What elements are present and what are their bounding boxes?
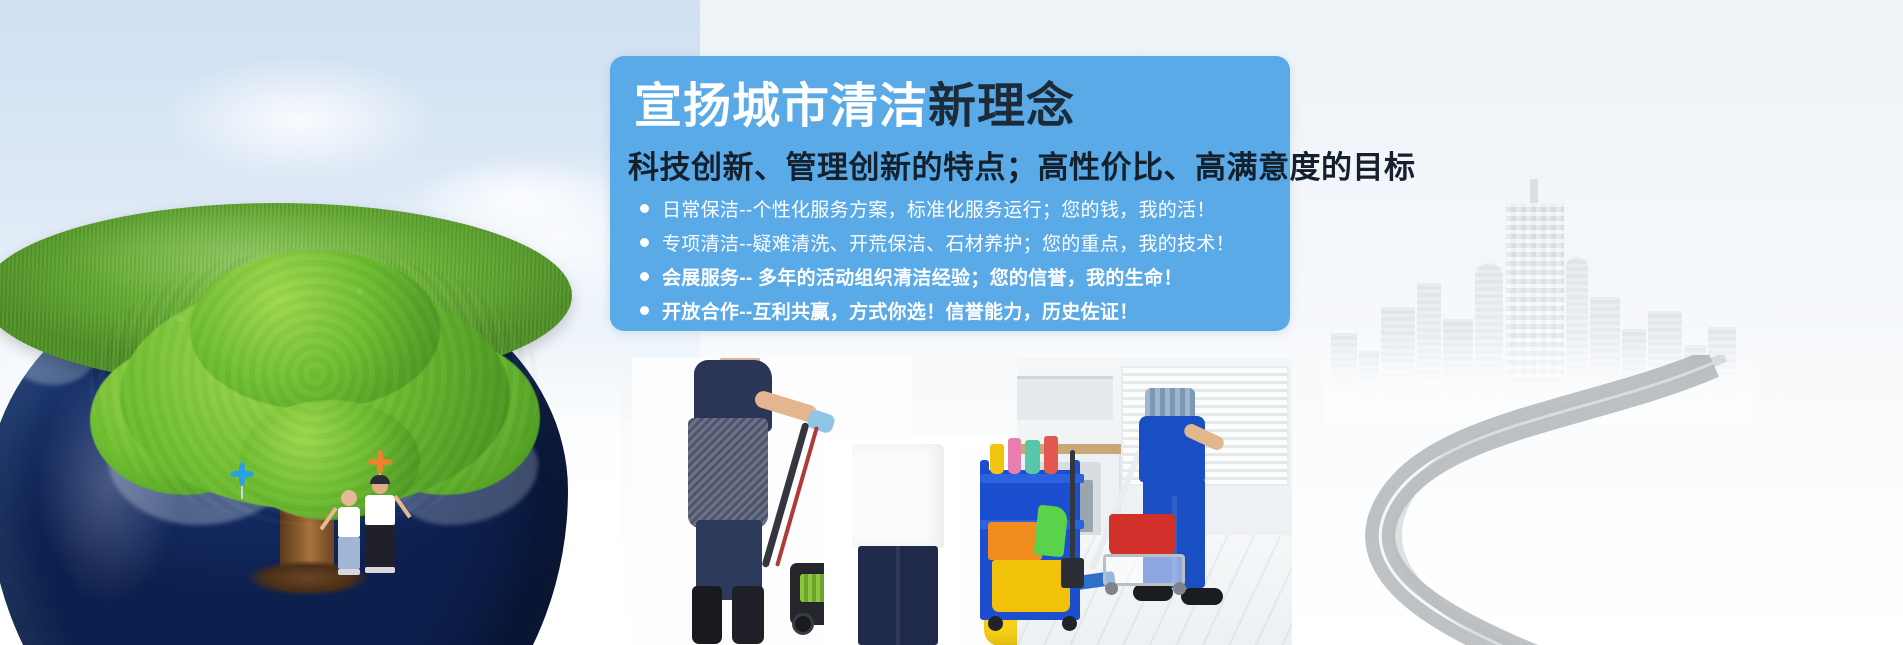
tree-graphic [80,250,540,600]
list-item-label: 日常保洁--个性化服务方案，标准化服务运行；您的钱，我的活！ [662,195,1216,222]
child-boy [365,478,395,570]
page-title: 宣扬城市清洁新理念 [634,78,1075,136]
service-list: 日常保洁--个性化服务方案，标准化服务运行；您的钱，我的活！ 专项清洁--疑难清… [640,193,1235,329]
page-subtitle: 科技创新、管理创新的特点；高性价比、高满意度的目标 [628,142,1416,187]
headline-white-part: 宣扬城市清洁 [634,80,928,133]
photo-strip [632,358,1292,645]
pinwheel-blue-icon [230,462,254,486]
list-item-label: 会展服务-- 多年的活动组织清洁经验；您的信誉，我的生命！ [662,263,1183,290]
earth-tree-illustration [0,255,580,645]
bullet-dot-icon [640,204,649,213]
child-girl [338,490,360,568]
bullet-dot-icon [640,238,649,247]
list-item-label: 开放合作--互利共赢，方式你选！信誉能力，历史佐证！ [662,297,1138,324]
pinwheel-orange-icon [368,450,392,474]
bullet-dot-icon [640,272,649,281]
list-item-label: 专项清洁--疑难清洗、开荒保洁、石材养护；您的重点，我的技术！ [662,229,1235,256]
headline-dark-part: 新理念 [928,80,1075,133]
cleaning-cart-graphic [970,410,1090,645]
promo-banner: 宣扬城市清洁新理念 科技创新、管理创新的特点；高性价比、高满意度的目标 日常保洁… [0,0,1903,645]
bullet-dot-icon [640,306,649,315]
list-item: 专项清洁--疑难清洗、开荒保洁、石材养护；您的重点，我的技术！ [640,227,1235,258]
list-item: 开放合作--互利共赢，方式你选！信誉能力，历史佐证！ [640,295,1235,326]
road-illustration [1293,355,1813,645]
list-item: 会展服务-- 多年的活动组织清洁经验；您的信誉，我的生命！ [640,261,1235,292]
list-item: 日常保洁--个性化服务方案，标准化服务运行；您的钱，我的活！ [640,193,1235,224]
